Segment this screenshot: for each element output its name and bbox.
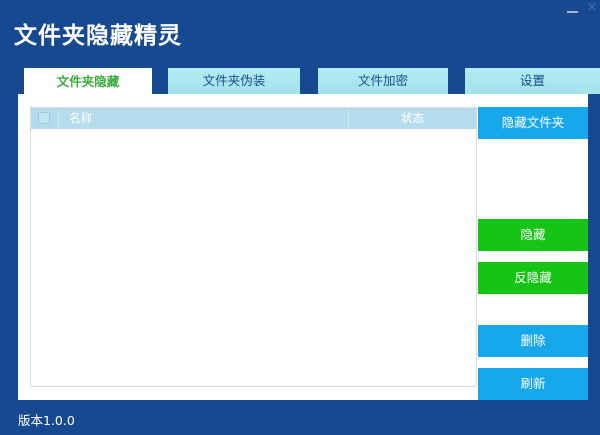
tab-settings[interactable]: 设置 [465,68,600,94]
application-window: 文件夹隐藏精灵 ✕ 文件夹隐藏 文件夹伪装 文件加密 设置 名称 状态 隐藏文件… [0,0,600,435]
version-label: 版本1.0.0 [18,410,75,429]
tab-folder-disguise[interactable]: 文件夹伪装 [168,68,300,94]
main-panel: 名称 状态 隐藏文件夹 隐藏 反隐藏 删除 刷新 [18,94,588,400]
tab-file-encrypt[interactable]: 文件加密 [318,68,448,94]
close-icon[interactable]: ✕ [585,1,599,15]
hide-folder-button[interactable]: 隐藏文件夹 [478,107,588,139]
tab-folder-hide[interactable]: 文件夹隐藏 [24,68,152,95]
tab-strip: 文件夹隐藏 文件夹伪装 文件加密 设置 [18,68,600,94]
status-bar: 版本1.0.0 [0,400,600,435]
unhide-button[interactable]: 反隐藏 [478,262,588,294]
delete-button[interactable]: 删除 [478,325,588,357]
minimize-icon[interactable] [566,3,580,17]
action-button-group: 隐藏文件夹 隐藏 反隐藏 删除 刷新 [478,107,578,387]
column-header-name[interactable]: 名称 [59,108,349,129]
minimize-glyph [567,11,578,13]
checkbox-icon[interactable] [38,112,50,124]
refresh-button[interactable]: 刷新 [478,368,588,400]
file-list-body[interactable] [31,129,476,386]
title-bar: 文件夹隐藏精灵 ✕ [0,0,600,62]
file-list: 名称 状态 [30,107,477,387]
hide-button[interactable]: 隐藏 [478,219,588,251]
file-list-header: 名称 状态 [31,108,476,129]
page-title: 文件夹隐藏精灵 [14,22,182,50]
column-header-status[interactable]: 状态 [349,108,476,129]
column-select-all [31,108,59,129]
